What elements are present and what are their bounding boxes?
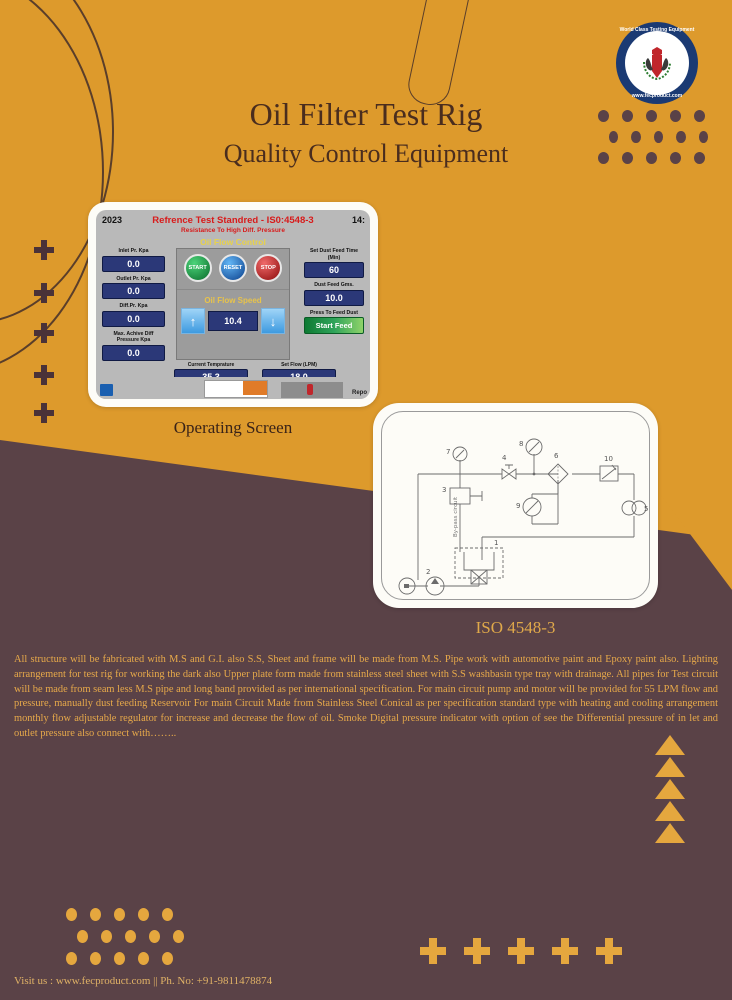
footer-cross-1 (420, 938, 446, 964)
footer-cross-5 (596, 938, 622, 964)
hydraulic-circuit-diagram: 7 4 8 6 (382, 412, 650, 600)
valve-4-icon (502, 465, 516, 479)
svg-text:7: 7 (446, 448, 450, 456)
hmi-title: Refrence Test Standred - IS0:4548-3 (96, 215, 370, 226)
page-title: Oil Filter Test Rig (0, 96, 732, 133)
svg-text:3: 3 (442, 486, 446, 494)
company-logo: World Class Testing Equipment www.fecpro… (616, 22, 698, 104)
iso-diagram-inner: 7 4 8 6 (381, 411, 650, 600)
hmi-subtitle: Resistance To High Diff. Pressure (96, 227, 370, 234)
speed-up-arrow-icon[interactable]: ↑ (181, 308, 205, 334)
stop-button[interactable]: STOP (254, 254, 282, 282)
svg-text:1: 1 (494, 539, 498, 547)
hmi-button-row: START RESET STOP (177, 249, 289, 282)
svg-text:10: 10 (604, 455, 613, 463)
page-subtitle: Quality Control Equipment (0, 139, 732, 169)
set-flow-label: Set Flow (LPM) (262, 362, 336, 368)
start-button[interactable]: START (184, 254, 212, 282)
taskbar-app-icon[interactable] (100, 384, 113, 396)
decorative-triangle-4 (655, 801, 685, 821)
svg-text:9: 9 (516, 502, 520, 510)
poster-page: World Class Testing Equipment www.fecpro… (0, 0, 732, 1000)
oil-flow-speed-header: Oil Flow Speed (177, 289, 289, 305)
operating-screen-caption: Operating Screen (88, 418, 378, 438)
set-dust-feed-time-label: Set Dust Feed Time (Min) (304, 248, 364, 261)
decorative-cross-5 (34, 403, 54, 423)
max-achieve-diff-pressure-value: 0.0 (102, 345, 165, 361)
inlet-pressure-label: Inlet Pr. Kpa (102, 248, 165, 255)
bypass-circuit-label: By-pass circuit (453, 496, 459, 537)
footer-cross-row (420, 938, 622, 964)
dot-grid-bottom-left (66, 908, 186, 974)
oil-flow-speed-value: 10.4 (208, 311, 258, 331)
diff-pressure-value: 0.0 (102, 311, 165, 327)
iso-diagram-caption: ISO 4548-3 (373, 618, 658, 638)
svg-text:8: 8 (519, 440, 523, 448)
hmi-screen[interactable]: 2023 14: Refrence Test Standred - IS0:45… (96, 210, 370, 399)
flowmeter-5-icon (622, 501, 646, 515)
set-dust-feed-time-value[interactable]: 60 (304, 262, 364, 278)
decorative-triangle-2 (655, 757, 685, 777)
outlet-pressure-label: Outlet Pr. Kpa (102, 276, 165, 283)
svg-text:6: 6 (554, 452, 559, 460)
inlet-pressure-value: 0.0 (102, 256, 165, 272)
speed-down-arrow-icon[interactable]: ↓ (261, 308, 285, 334)
hmi-left-readouts: Inlet Pr. Kpa 0.0 Outlet Pr. Kpa 0.0 Dif… (102, 248, 165, 365)
taskbar-thermometer-icon[interactable] (281, 382, 343, 398)
taskbar-document-icon[interactable] (204, 380, 268, 398)
taskbar-report-label[interactable]: Repo (352, 390, 367, 396)
iso-diagram-card: 7 4 8 6 (373, 403, 658, 608)
svg-text:4: 4 (502, 454, 507, 462)
crest-icon (640, 44, 674, 82)
svg-text:2: 2 (426, 568, 430, 576)
outlet-pressure-value: 0.0 (102, 283, 165, 299)
svg-text:5: 5 (644, 505, 648, 513)
decorative-cross-2 (34, 283, 54, 303)
feed-dust-prompt: Press To Feed Dust (304, 310, 364, 317)
hmi-right-controls: Set Dust Feed Time (Min) 60 Dust Feed Gm… (304, 248, 364, 334)
footer-cross-4 (552, 938, 578, 964)
decorative-triangle-3 (655, 779, 685, 799)
logo-inner-disc (625, 31, 689, 95)
start-feed-button[interactable]: Start Feed (304, 317, 364, 334)
footer-contact[interactable]: Visit us : www.fecproduct.com || Ph. No:… (14, 975, 272, 987)
hmi-taskbar: Repo (96, 377, 370, 399)
operating-screen-card: 2023 14: Refrence Test Standred - IS0:45… (88, 202, 378, 407)
dust-feed-gms-value[interactable]: 10.0 (304, 290, 364, 306)
decorative-cross-1 (34, 240, 54, 260)
diff-pressure-label: Diff.Pr. Kpa (102, 303, 165, 310)
decorative-cross-3 (34, 323, 54, 343)
dust-feed-gms-label: Dust Feed Gms. (304, 282, 364, 289)
decorative-triangle-1 (655, 735, 685, 755)
current-temperature-label: Current Temprature (174, 362, 248, 368)
footer-cross-2 (464, 938, 490, 964)
hmi-oil-flow-control-header: Oil Flow Control (96, 237, 370, 247)
hmi-control-panel: START RESET STOP Oil Flow Speed ↑ 10.4 ↓ (176, 248, 290, 360)
max-achieve-diff-pressure-label: Max. Achive Diff Pressure Kpa (102, 331, 165, 344)
decorative-cross-4 (34, 365, 54, 385)
decorative-triangle-5 (655, 823, 685, 843)
valve-10-icon (600, 465, 618, 481)
reset-button[interactable]: RESET (219, 254, 247, 282)
description-text: All structure will be fabricated with M.… (14, 653, 718, 742)
oil-flow-speed-row: ↑ 10.4 ↓ (177, 305, 289, 334)
footer-cross-3 (508, 938, 534, 964)
